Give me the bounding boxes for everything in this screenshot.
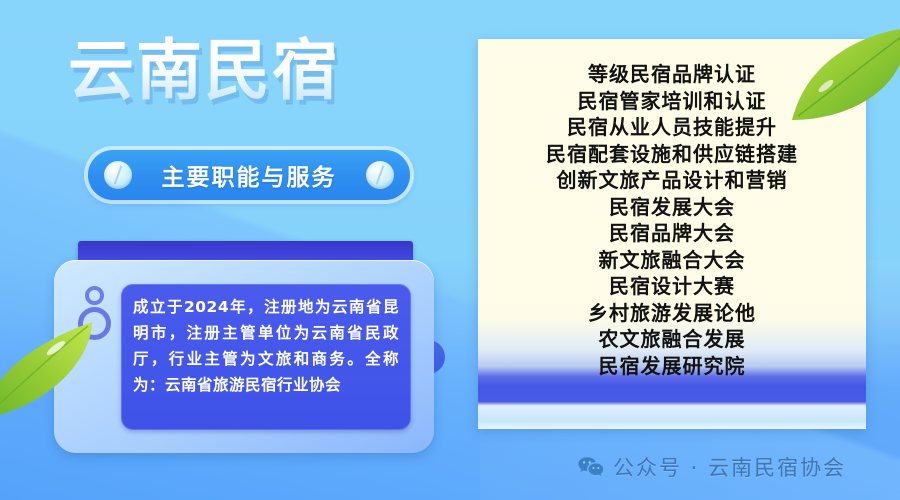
about-text: 成立于2024年，注册地为云南省昆明市，注册主管单位为云南省民政厅，行业主管为文… [133, 294, 399, 398]
services-list: 等级民宿品牌认证民宿管家培训和认证民宿从业人员技能提升民宿配套设施和供应链搭建创… [478, 61, 866, 379]
section-pill[interactable]: 主要职能与服务 [88, 150, 410, 200]
service-item: 民宿发展研究院 [478, 353, 866, 380]
service-item: 等级民宿品牌认证 [478, 61, 866, 88]
service-item: 创新文旅产品设计和营销 [478, 167, 866, 194]
about-text-box: 成立于2024年，注册地为云南省昆明市，注册主管单位为云南省民政厅，行业主管为文… [121, 284, 411, 430]
service-item: 新文旅融合大会 [478, 247, 866, 274]
service-item: 民宿管家培训和认证 [478, 88, 866, 115]
ring-small-icon [85, 286, 104, 305]
footer-text: 公众号 · 云南民宿协会 [613, 452, 846, 482]
about-card: 成立于2024年，注册地为云南省昆明市，注册主管单位为云南省民政厅，行业主管为文… [54, 260, 434, 453]
service-item: 民宿配套设施和供应链搭建 [478, 141, 866, 168]
capsule-dot-icon-left [104, 161, 132, 189]
ring-large-icon [78, 307, 111, 340]
poster-canvas: 云南民宿 主要职能与服务 成立于2024年，注册地为云南省昆明市，注册主管单位为… [0, 0, 900, 500]
card-rings-decoration [78, 286, 112, 340]
footer[interactable]: 公众号 · 云南民宿协会 [578, 452, 846, 482]
wechat-icon [578, 456, 604, 478]
section-pill-label: 主要职能与服务 [132, 158, 366, 192]
capsule-dot-icon-right [366, 161, 394, 189]
service-item: 民宿品牌大会 [478, 220, 866, 247]
service-item: 民宿设计大赛 [478, 273, 866, 300]
page-title: 云南民宿 [68, 34, 340, 108]
service-item: 乡村旅游发展论他 [478, 300, 866, 327]
left-column: 云南民宿 主要职能与服务 成立于2024年，注册地为云南省昆明市，注册主管单位为… [0, 0, 470, 500]
service-item: 民宿从业人员技能提升 [478, 114, 866, 141]
service-item: 农文旅融合发展 [478, 326, 866, 353]
services-panel: 等级民宿品牌认证民宿管家培训和认证民宿从业人员技能提升民宿配套设施和供应链搭建创… [478, 39, 866, 429]
service-item: 民宿发展大会 [478, 194, 866, 221]
